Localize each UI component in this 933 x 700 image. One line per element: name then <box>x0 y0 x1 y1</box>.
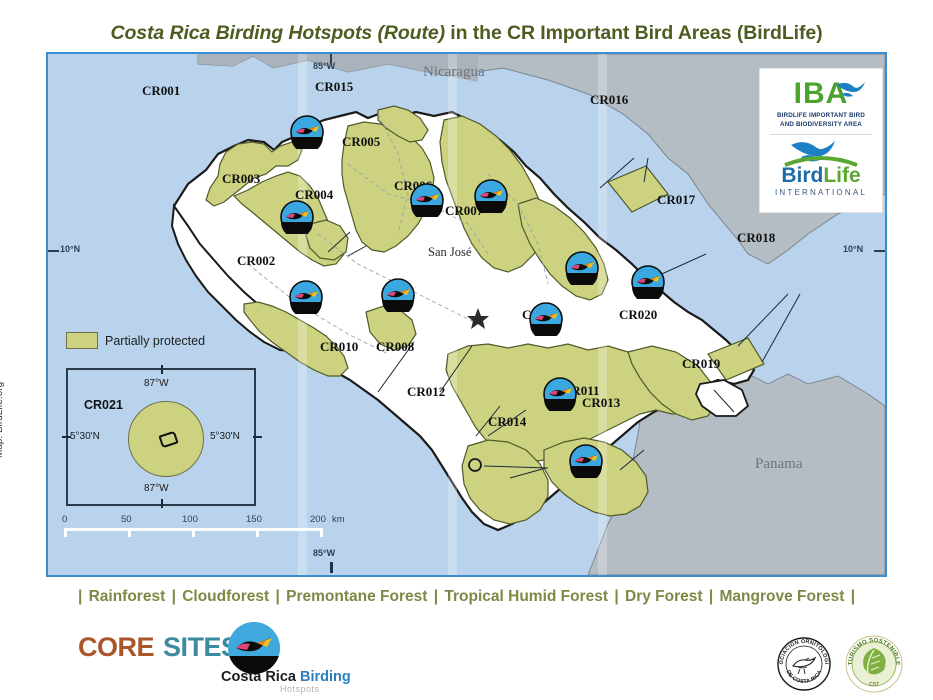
scalebar-tick-150 <box>256 528 259 537</box>
asociacion-ornitologica-logo: ASOCIACION ORNITOLOGICA DE COSTA RICA <box>776 636 832 692</box>
legend-label-partially-protected: Partially protected <box>105 334 205 348</box>
legend-swatch-partially-protected <box>66 332 98 349</box>
iba-label-cr016: CR016 <box>590 92 628 108</box>
hotspot-marker[interactable] <box>474 179 508 213</box>
logo-divider <box>770 134 872 135</box>
iba-label-cr013: CR013 <box>582 395 620 411</box>
country-label-panama: Panama <box>755 456 802 473</box>
bird-swoosh-icon <box>836 79 866 106</box>
map-canvas[interactable]: Nicaragua Panama San José 10°N 10°N 85°W… <box>46 52 887 577</box>
coord-tick-right <box>874 250 885 252</box>
iba-subtitle-line2: AND BIODIVERSITY AREA <box>765 121 877 130</box>
iba-subtitle: BIRDLIFE IMPORTANT BIRD AND BIODIVERSITY… <box>760 112 882 129</box>
inset-label-cr021: CR021 <box>84 398 123 412</box>
inset-coord-top: 87°W <box>144 378 169 389</box>
scalebar-label-50: 50 <box>121 514 132 525</box>
costa-rica-birding-logo[interactable]: Costa Rica Birding Hotspots <box>228 622 348 694</box>
hotspot-marker[interactable] <box>569 444 603 478</box>
page-title: Costa Rica Birding Hotspots (Route) in t… <box>0 22 933 45</box>
page-title-italic: Costa Rica Birding Hotspots (Route) <box>110 22 445 44</box>
hotspot-marker[interactable] <box>280 200 314 234</box>
iba-label-cr014: CR014 <box>488 414 526 430</box>
crb-word-birding: Birding <box>300 669 351 685</box>
hotspot-marker[interactable] <box>381 278 415 312</box>
core-word: CORE <box>78 632 154 663</box>
iba-label-cr012: CR012 <box>407 384 445 400</box>
iba-subtitle-line1: BIRDLIFE IMPORTANT BIRD <box>765 112 877 121</box>
hotspot-marker[interactable] <box>529 302 563 336</box>
scalebar-tick-200 <box>320 528 323 537</box>
habitat-mangrove-forest: Mangrove Forest <box>720 588 845 605</box>
birdlife-bird-icon <box>760 137 882 167</box>
iba-label-cr019: CR019 <box>682 356 720 372</box>
inset-tick-top <box>161 365 163 374</box>
map-source-credit: Map: BirdLife.org <box>0 382 5 458</box>
habitat-sep: | <box>276 588 280 605</box>
scalebar-label-200: 200 <box>310 514 326 525</box>
iba-label-cr017: CR017 <box>657 192 695 208</box>
habitat-sep: | <box>434 588 438 605</box>
coord-tick-left <box>48 250 59 252</box>
scalebar-label-150: 150 <box>246 514 262 525</box>
habitat-sep: | <box>614 588 618 605</box>
inset-tick-right <box>253 436 262 438</box>
svg-text:CST: CST <box>869 682 879 688</box>
birdlife-word-life: Life <box>823 164 860 187</box>
coord-tick-top <box>330 54 332 63</box>
country-label-nicaragua: Nicaragua <box>423 64 485 81</box>
hotspot-marker[interactable] <box>565 251 599 285</box>
habitat-tropical-humid-forest: Tropical Humid Forest <box>444 588 608 605</box>
coord-tick-bottom <box>330 562 333 573</box>
city-label-san-jose: San José <box>428 245 471 260</box>
habitat-sep: | <box>851 588 855 605</box>
habitat-sep: | <box>709 588 713 605</box>
hotspot-marker[interactable] <box>543 377 577 411</box>
inset-tick-bottom <box>161 499 163 508</box>
turismo-sostenible-logo: TURISMO SOSTENIBLE CST <box>844 634 904 694</box>
iba-label-cr008: CR008 <box>376 339 414 355</box>
scalebar-label-0: 0 <box>62 514 67 525</box>
habitat-legend-strip: | Rainforest | Cloudforest | Premontane … <box>0 588 933 606</box>
iba-label-cr020: CR020 <box>619 307 657 323</box>
scalebar-tick-100 <box>192 528 195 537</box>
scalebar-label-100: 100 <box>182 514 198 525</box>
birdlife-word-bird: Bird <box>781 164 823 187</box>
scalebar-tick-50 <box>128 528 131 537</box>
coord-label-bottom-85w: 85°W <box>313 548 335 558</box>
habitat-cloudforest: Cloudforest <box>182 588 269 605</box>
habitat-premontane-forest: Premontane Forest <box>286 588 427 605</box>
iba-label-cr001: CR001 <box>142 83 180 99</box>
scalebar-unit: km <box>332 514 345 525</box>
coord-label-left-10n: 10°N <box>60 244 80 254</box>
habitat-sep: | <box>78 588 82 605</box>
iba-label-cr002: CR002 <box>237 253 275 269</box>
iba-acronym-block: IBA <box>760 77 882 111</box>
habitat-sep: | <box>172 588 176 605</box>
iba-label-cr018: CR018 <box>737 230 775 246</box>
hotspot-marker[interactable] <box>289 280 323 314</box>
iba-label-cr015: CR015 <box>315 79 353 95</box>
birdlife-wordmark: BirdLife <box>760 165 882 187</box>
footer-logos: CORE SITES Costa Rica Birding Hotspots <box>0 618 933 700</box>
toucan-logo-icon <box>228 622 280 674</box>
scalebar-tick-0 <box>64 528 67 537</box>
page-title-rest: in the CR Important Bird Areas (BirdLife… <box>445 22 823 44</box>
inset-map-cr021[interactable]: CR021 87°W 87°W 5°30'N 5°30'N <box>66 368 256 506</box>
habitat-dry-forest: Dry Forest <box>625 588 703 605</box>
core-sites-wordmark: CORE SITES <box>78 632 239 663</box>
iba-label-cr003: CR003 <box>222 171 260 187</box>
map-scalebar: 0 50 100 150 200 km <box>64 514 324 546</box>
crb-word-costa-rica: Costa Rica <box>221 669 300 685</box>
costa-rica-birding-wordmark: Costa Rica Birding <box>221 669 351 685</box>
inset-coord-left: 5°30'N <box>70 431 100 442</box>
crb-word-hotspots: Hotspots <box>280 684 320 694</box>
map-legend: Partially protected <box>66 332 205 349</box>
hotspot-marker[interactable] <box>631 265 665 299</box>
inset-coord-right: 5°30'N <box>210 431 240 442</box>
habitat-rainforest: Rainforest <box>89 588 166 605</box>
birdlife-international-label: INTERNATIONAL <box>760 188 882 197</box>
iba-birdlife-logo: IBA BIRDLIFE IMPORTANT BIRD AND BIODIVER… <box>759 68 883 213</box>
hotspot-marker[interactable] <box>290 115 324 149</box>
coord-label-right-10n: 10°N <box>843 244 863 254</box>
hotspot-marker[interactable] <box>410 183 444 217</box>
iba-label-cr010: CR010 <box>320 339 358 355</box>
iba-label-cr005: CR005 <box>342 134 380 150</box>
inset-coord-bottom: 87°W <box>144 483 169 494</box>
